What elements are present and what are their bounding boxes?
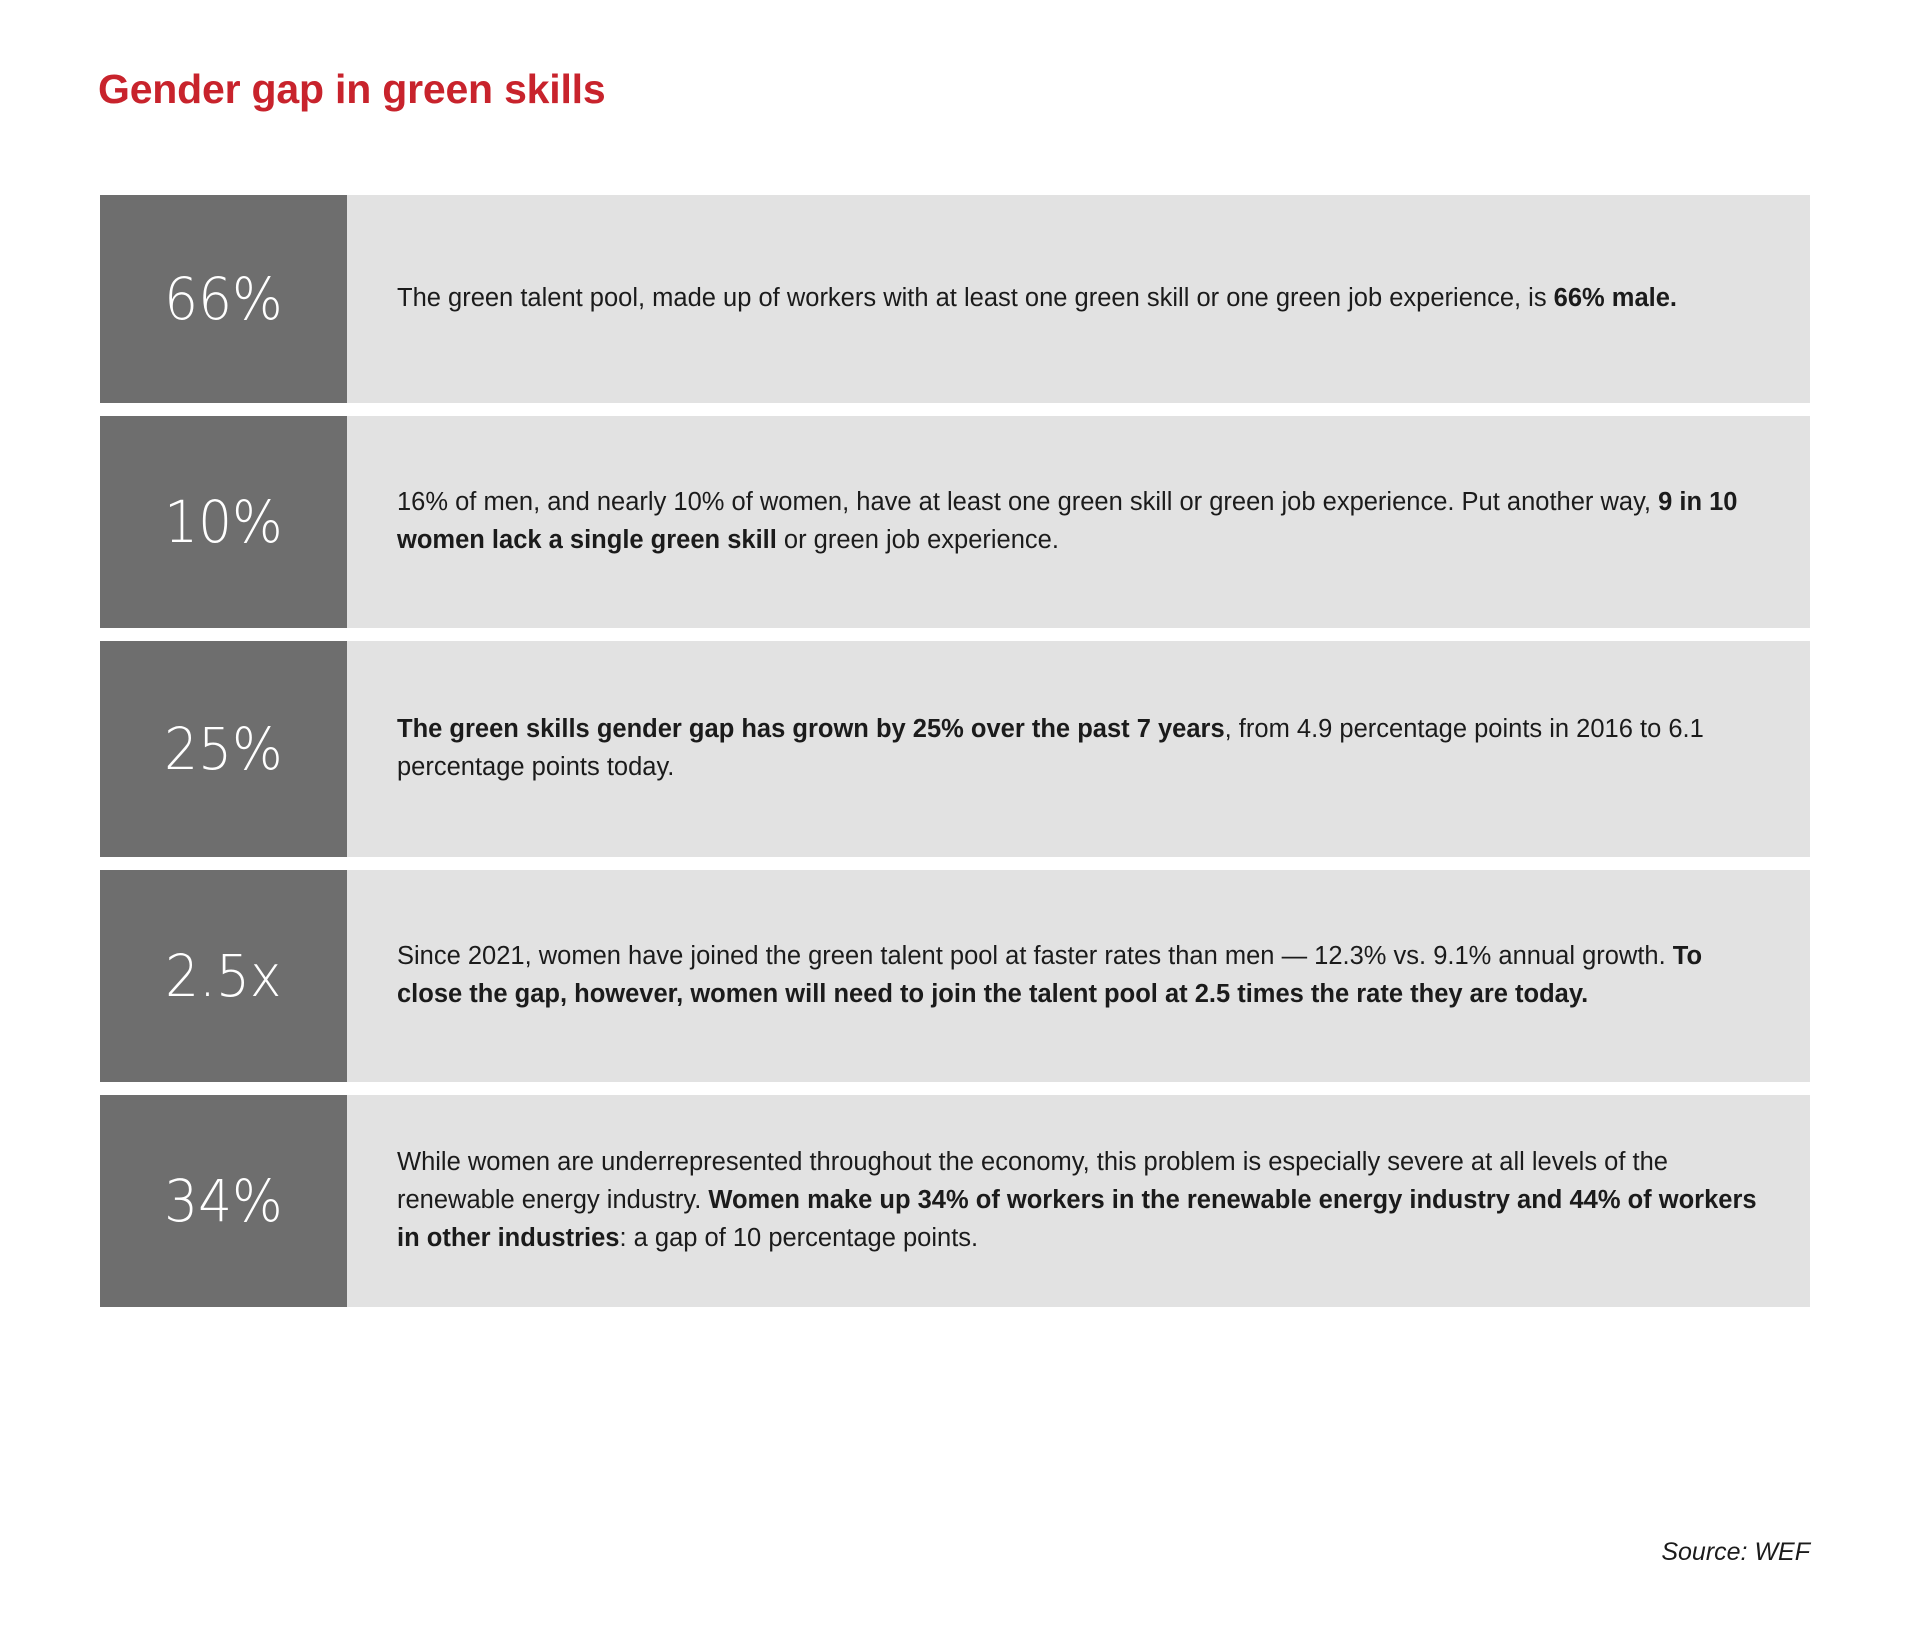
stat-value: 34% (164, 1172, 283, 1230)
stat-row: 10% 16% of men, and nearly 10% of women,… (100, 416, 1810, 628)
stat-value: 25% (164, 720, 283, 778)
stat-box: 2.5x (100, 870, 347, 1082)
stat-row: 66% The green talent pool, made up of wo… (100, 195, 1810, 403)
stat-description: While women are underrepresented through… (347, 1095, 1810, 1307)
stat-row: 2.5x Since 2021, women have joined the g… (100, 870, 1810, 1082)
stat-description-text: While women are underrepresented through… (397, 1144, 1758, 1257)
plain-text: 16% of men, and nearly 10% of women, hav… (397, 488, 1658, 516)
source-label: Source: WEF (1661, 1538, 1810, 1567)
plain-text: or green job experience. (777, 526, 1059, 554)
stat-box: 66% (100, 195, 347, 403)
page-title: Gender gap in green skills (98, 66, 605, 113)
stat-description: Since 2021, women have joined the green … (347, 870, 1810, 1082)
stat-box: 10% (100, 416, 347, 628)
stat-description: 16% of men, and nearly 10% of women, hav… (347, 416, 1810, 628)
stat-description-text: Since 2021, women have joined the green … (397, 938, 1758, 1013)
infographic-page: Gender gap in green skills 66% The green… (0, 0, 1920, 1632)
emphasis-text: 66% male. (1554, 284, 1677, 312)
stat-description-text: 16% of men, and nearly 10% of women, hav… (397, 484, 1758, 559)
plain-text: : a gap of 10 percentage points. (619, 1224, 978, 1252)
stat-value: 2.5x (165, 947, 281, 1005)
stat-row: 25% The green skills gender gap has grow… (100, 641, 1810, 857)
stat-row: 34% While women are underrepresented thr… (100, 1095, 1810, 1307)
stat-value: 10% (164, 493, 283, 551)
stat-box: 25% (100, 641, 347, 857)
stat-description-text: The green talent pool, made up of worker… (397, 280, 1677, 318)
stat-description-text: The green skills gender gap has grown by… (397, 711, 1758, 786)
emphasis-text: The green skills gender gap has grown by… (397, 715, 1225, 743)
stat-value: 66% (164, 270, 283, 328)
stat-box: 34% (100, 1095, 347, 1307)
stat-description: The green talent pool, made up of worker… (347, 195, 1810, 403)
plain-text: Since 2021, women have joined the green … (397, 942, 1673, 970)
stat-description: The green skills gender gap has grown by… (347, 641, 1810, 857)
plain-text: The green talent pool, made up of worker… (397, 284, 1554, 312)
stat-rows-container: 66% The green talent pool, made up of wo… (100, 195, 1810, 1320)
